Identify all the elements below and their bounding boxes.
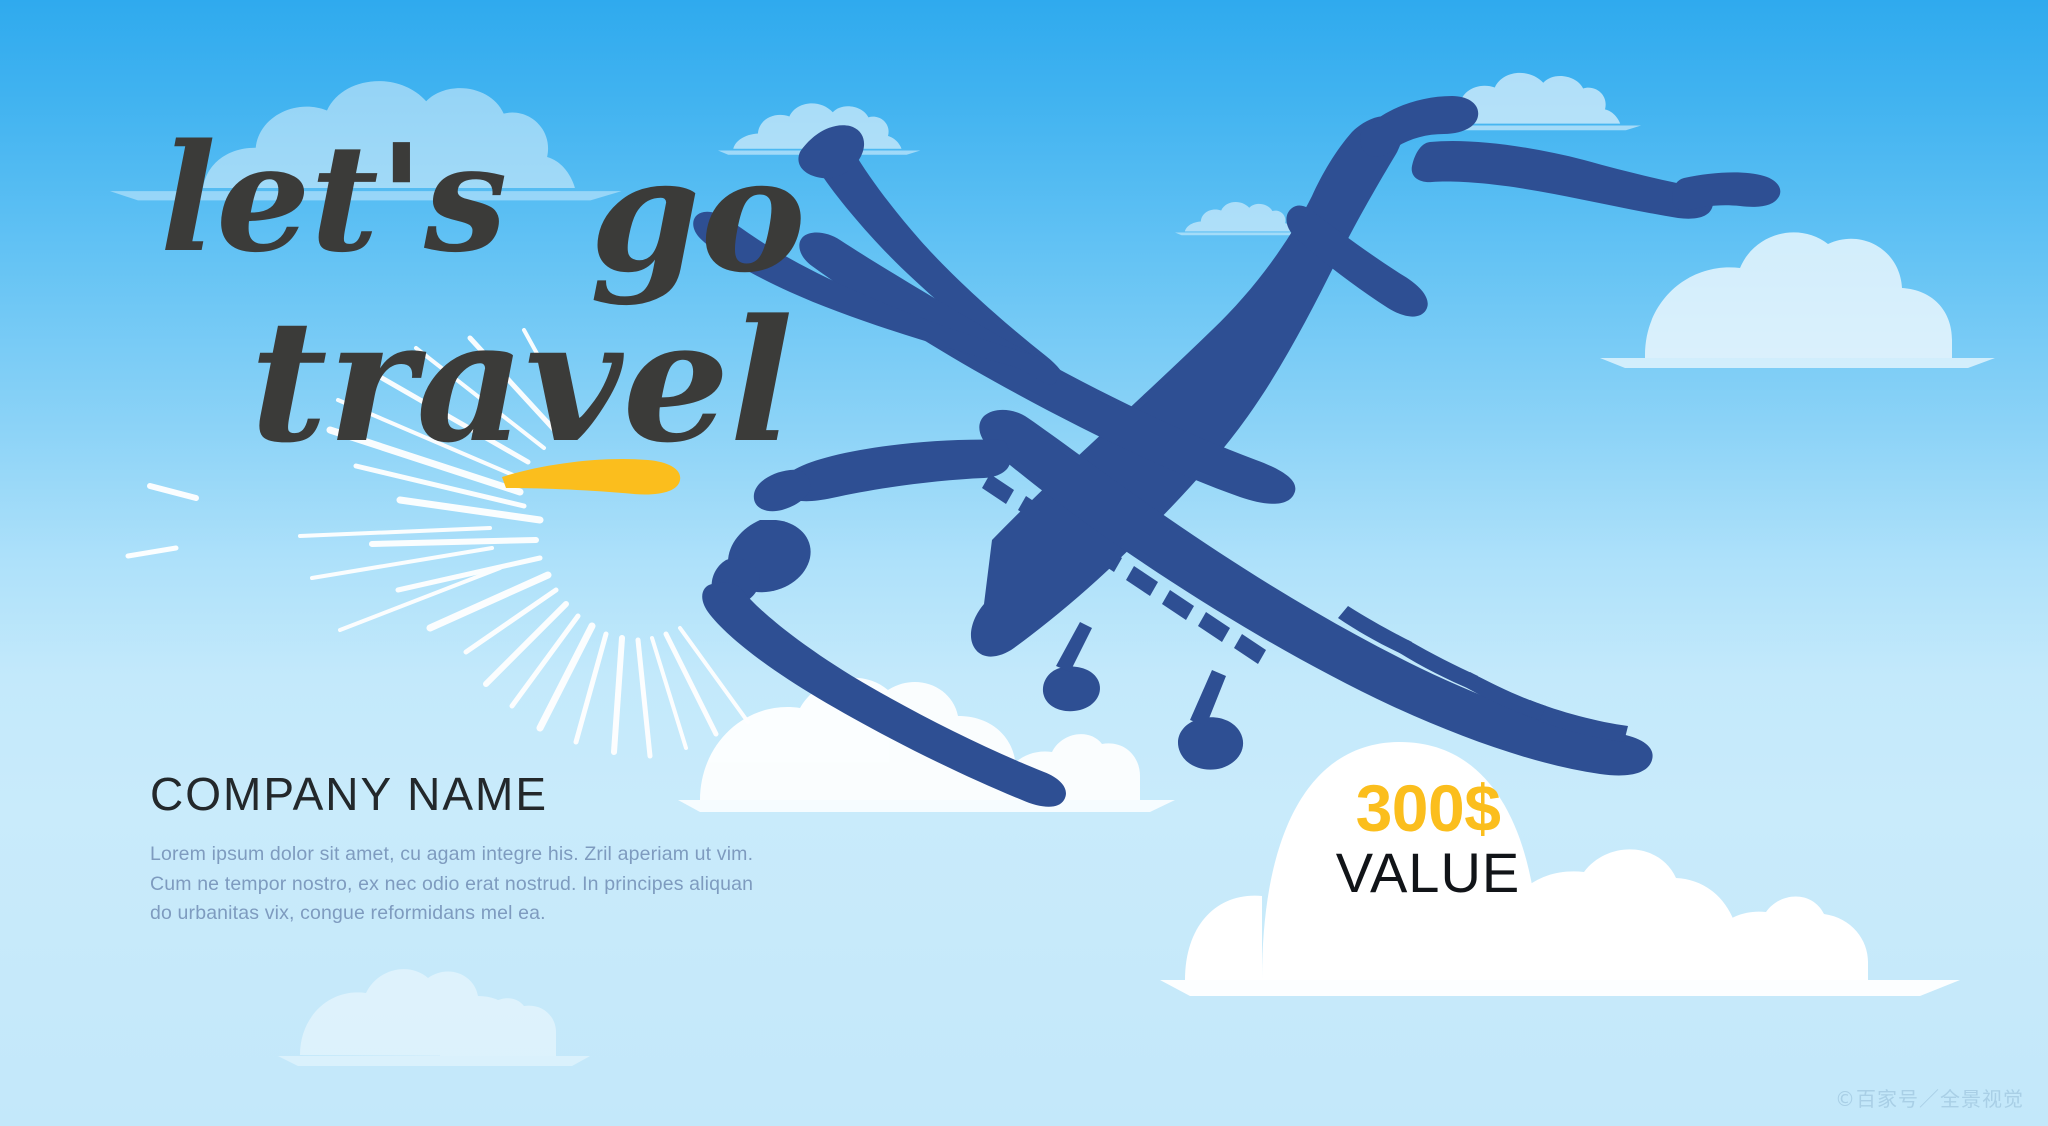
- price-label: VALUE: [1278, 845, 1578, 901]
- company-block: COMPANY NAME Lorem ipsum dolor sit amet,…: [150, 770, 810, 928]
- cloud-bottom-left: [278, 969, 590, 1066]
- headline-line-1: let's: [160, 111, 507, 285]
- company-description-line: do urbanitas vix, congue reformidans mel…: [150, 899, 770, 928]
- travel-banner: let's go travel COMPANY NAME Lorem ipsum…: [0, 0, 2048, 1126]
- cloud-right-tail: [1600, 232, 1995, 368]
- headline-line-3: travel: [250, 282, 793, 480]
- price-amount: 300$: [1278, 775, 1578, 841]
- company-description-line: Cum ne tempor nostro, ex nec odio erat n…: [150, 870, 770, 899]
- company-description-line: Lorem ipsum dolor sit amet, cu agam inte…: [150, 840, 770, 869]
- company-name: COMPANY NAME: [150, 770, 810, 818]
- headline-line-2: go: [590, 123, 806, 308]
- price-badge: 300$ VALUE: [1278, 775, 1578, 901]
- watermark: ©百家号／全景视觉: [1835, 1083, 2024, 1112]
- cloud-behind-plane: [1415, 73, 1641, 130]
- headline-script: let's go travel: [150, 120, 910, 540]
- cloud-small-mid: [1175, 202, 1306, 235]
- company-description: Lorem ipsum dolor sit amet, cu agam inte…: [150, 840, 770, 928]
